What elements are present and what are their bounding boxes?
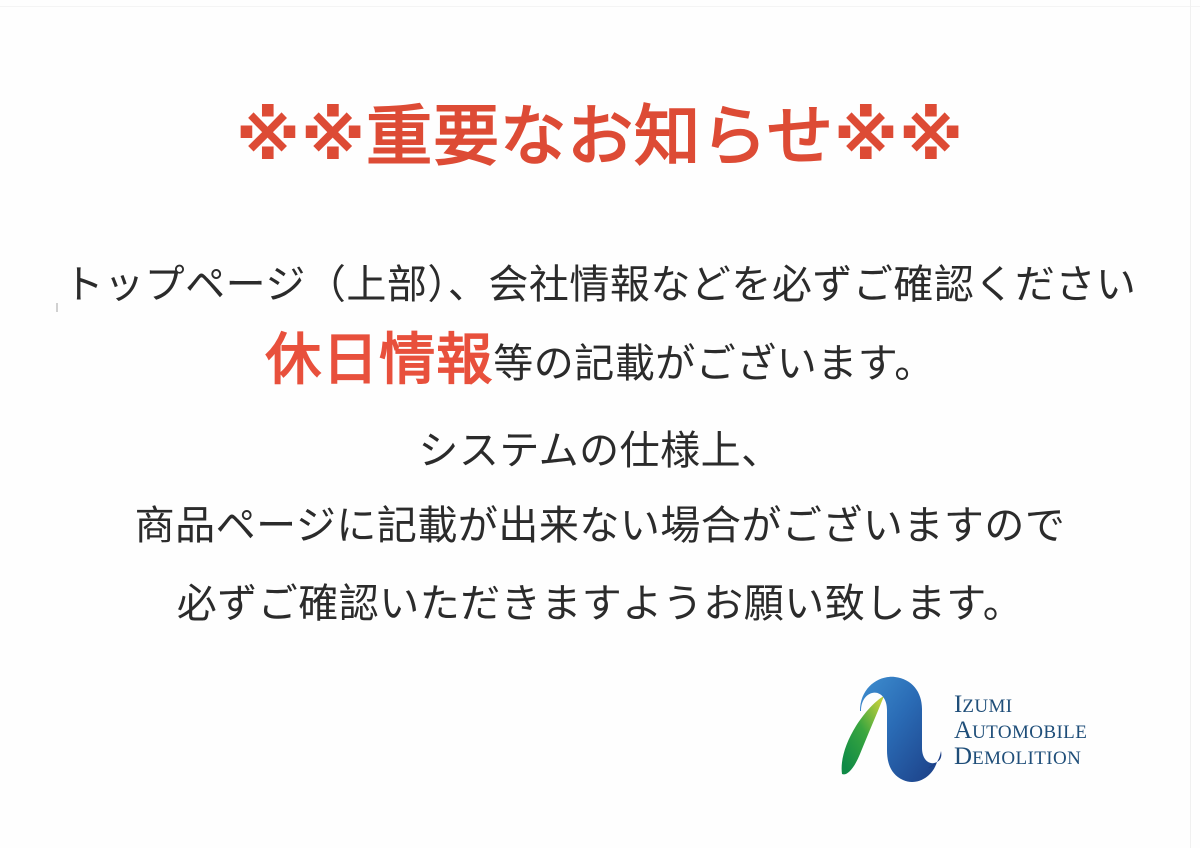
logo-izumi-rest: ZUMI [962, 696, 1012, 717]
logo-line-demolition: DEMOLITION [954, 744, 1087, 770]
logo-line-izumi: IZUMI [954, 692, 1087, 718]
notice-line-1: トップページ（上部）、会社情報などを必ずご確認ください [0, 252, 1200, 318]
logo-wordmark: IZUMI AUTOMOBILE DEMOLITION [954, 692, 1087, 770]
notice-line-2-tail: 等の記載がございます。 [493, 341, 935, 387]
logo-automobile-cap: A [954, 717, 972, 744]
notice-body: トップページ（上部）、会社情報などを必ずご確認ください 休日情報等の記載がござい… [0, 252, 1200, 643]
logo-demolition-cap: D [954, 743, 972, 770]
company-logo: IZUMI AUTOMOBILE DEMOLITION [838, 668, 1128, 794]
holiday-info-highlight: 休日情報 [265, 328, 493, 393]
notice-line-3: システムの仕様上、 [0, 415, 1200, 487]
scanned-notice-page: ※※重要なお知らせ※※ トップページ（上部）、会社情報などを必ずご確認ください … [0, 0, 1200, 848]
logo-line-automobile: AUTOMOBILE [954, 718, 1087, 744]
notice-line-2: 休日情報等の記載がございます。 [0, 318, 1200, 415]
scan-edge-top [0, 6, 1200, 7]
page-title: ※※重要なお知らせ※※ [0, 104, 1200, 170]
logo-automobile-rest: UTOMOBILE [972, 722, 1087, 743]
notice-line-5: 必ずご確認いただきますようお願い致します。 [0, 565, 1200, 643]
logo-demolition-rest: EMOLITION [972, 748, 1081, 769]
notice-line-4: 商品ページに記載が出来ない場合がございますので [0, 487, 1200, 565]
izumi-swirl-leaf-icon [838, 672, 942, 790]
